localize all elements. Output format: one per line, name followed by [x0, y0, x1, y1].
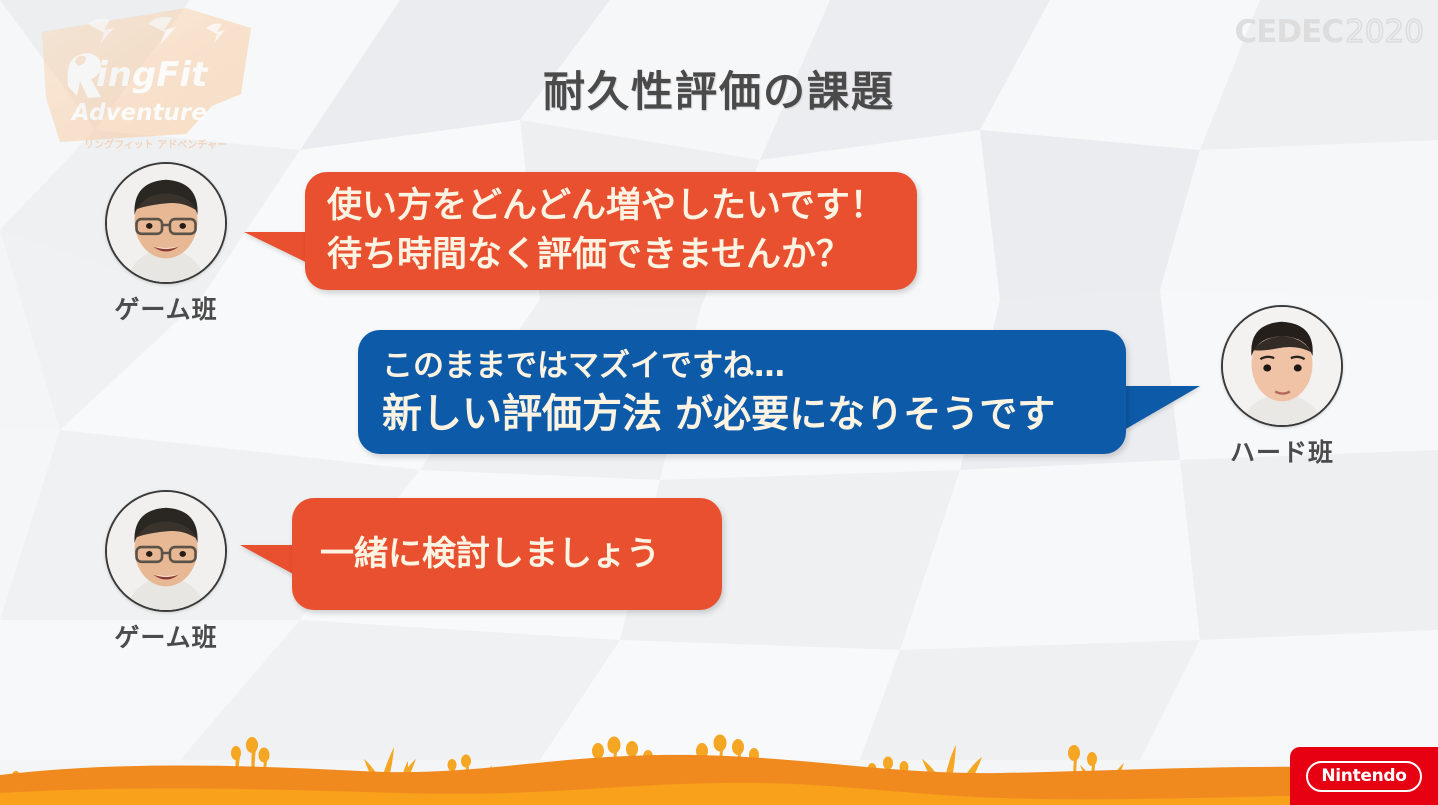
- speech-bubble-1-line2: 待ち時間なく評価できませんか？: [327, 231, 917, 280]
- speech-bubble-2-line1: このままではマズイですね…: [382, 344, 1126, 388]
- speech-bubble-2-keyword: 新しい評価方法: [382, 391, 662, 437]
- nintendo-wordmark: Nintendo: [1306, 761, 1421, 792]
- cedec-name: CEDEC: [1235, 14, 1344, 50]
- avatar-photo-game-team-2: [105, 490, 227, 612]
- cedec-logo: CEDEC 2020: [1235, 14, 1425, 50]
- speech-bubble-2: このままではマズイですね… 新しい評価方法 が必要になりそうです: [358, 330, 1126, 454]
- avatar-label-game-team-top: ゲーム班: [86, 290, 246, 326]
- bottom-decorative-band: [0, 715, 1438, 805]
- slide-canvas: ingFit Adventure リングフィット アドベンチャー CEDEC 2…: [0, 0, 1438, 805]
- avatar-photo-game-team: [105, 162, 227, 284]
- speech-bubble-2-tail: [1124, 386, 1200, 430]
- page-title: 耐久性評価の課題: [0, 58, 1438, 119]
- avatar-label-hardware-team: ハード班: [1202, 433, 1362, 469]
- avatar-face-glasses-icon: [107, 492, 225, 610]
- speech-bubble-1: 使い方をどんどん増やしたいです！ 待ち時間なく評価できませんか？: [305, 172, 917, 290]
- cedec-year: 2020: [1345, 14, 1424, 50]
- nintendo-logo: Nintendo: [1290, 747, 1438, 805]
- speech-bubble-2-line2: 新しい評価方法 が必要になりそうです: [382, 388, 1126, 440]
- speech-bubble-3: 一緒に検討しましょう: [292, 498, 722, 610]
- avatar-label-game-team-bottom: ゲーム班: [86, 618, 246, 654]
- speech-bubble-3-line1: 一緒に検討しましょう: [320, 498, 722, 610]
- avatar-face-glasses-icon: [107, 164, 225, 282]
- speech-bubble-2-line2-rest: が必要になりそうです: [662, 392, 1055, 436]
- avatar-game-team-bottom: ゲーム班: [86, 490, 246, 654]
- avatar-hardware-team: ハード班: [1202, 305, 1362, 469]
- avatar-photo-hardware-team: [1221, 305, 1343, 427]
- speech-bubble-1-line1: 使い方をどんどん増やしたいです！: [327, 182, 917, 231]
- svg-text:リングフィット アドベンチャー: リングフィット アドベンチャー: [84, 138, 227, 151]
- avatar-face-icon: [1223, 307, 1341, 425]
- avatar-game-team-top: ゲーム班: [86, 162, 246, 326]
